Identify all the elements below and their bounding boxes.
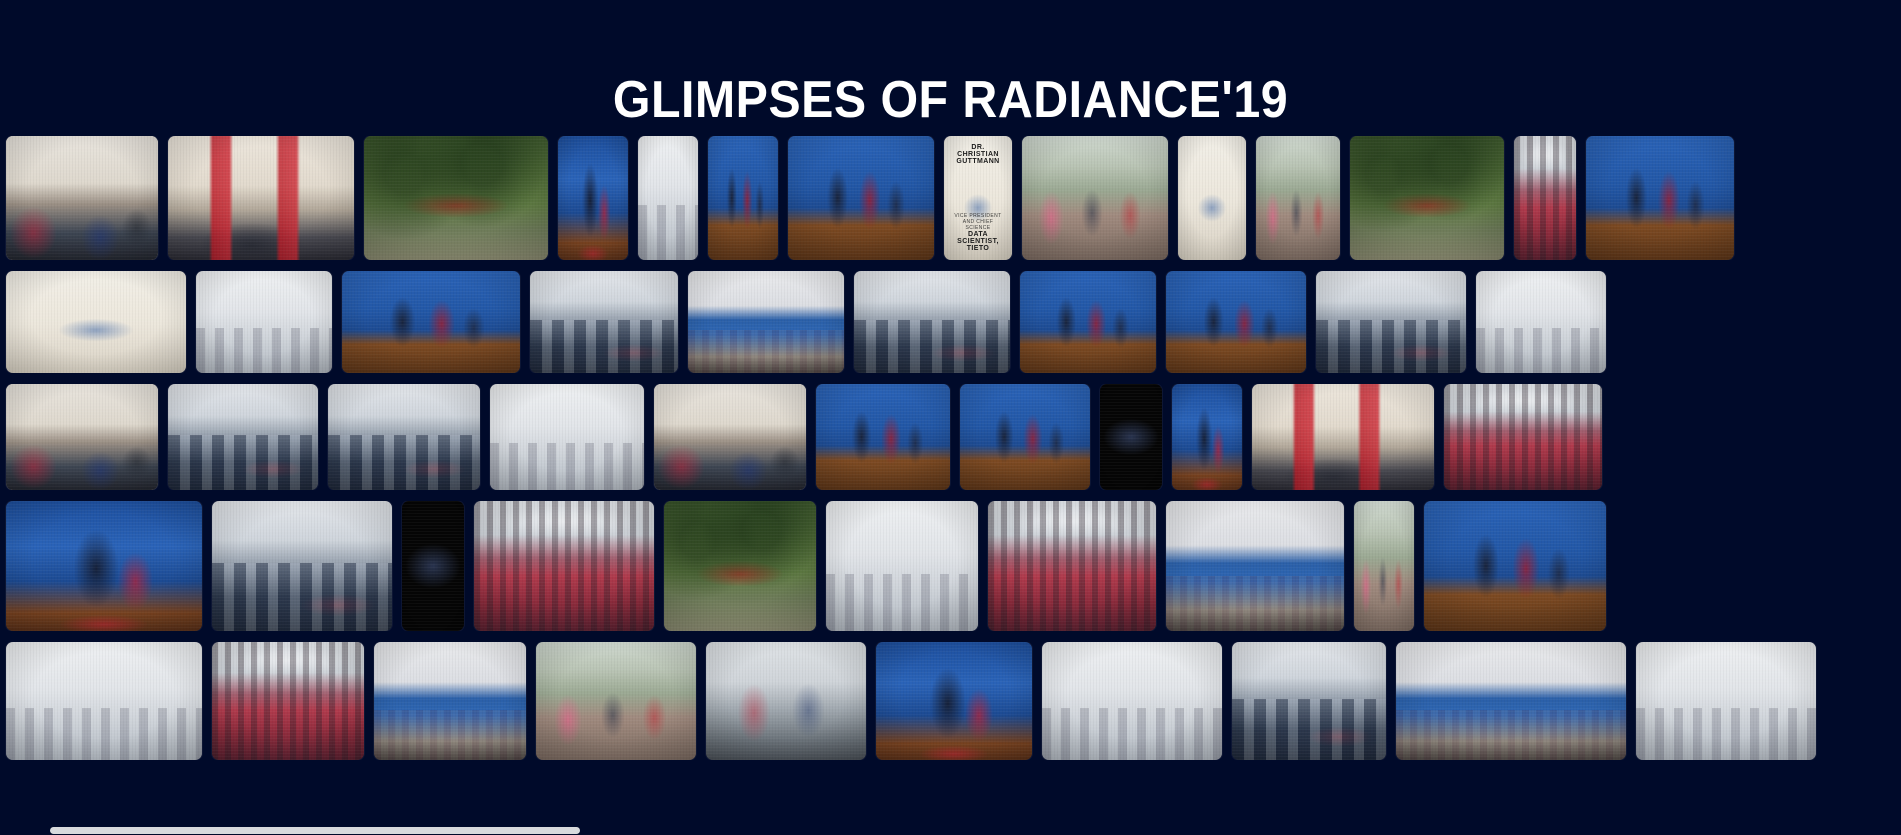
gallery-photo[interactable] [1166,501,1344,631]
gallery-row [0,271,1901,373]
photo-image [558,136,628,260]
gallery-photo[interactable] [1354,501,1414,631]
photo-image [1256,136,1340,260]
photo-image [988,501,1156,631]
photo-image [1232,642,1386,760]
gallery-photo[interactable] [558,136,628,260]
gallery-photo[interactable] [6,136,158,260]
scrollbar-thumb[interactable] [50,827,580,834]
photo-image [1178,136,1246,260]
photo-image [1166,501,1344,631]
photo-image [328,384,480,490]
photo-image [374,642,526,760]
photo-image [402,501,464,631]
photo-image [1444,384,1602,490]
gallery-photo[interactable] [1172,384,1242,490]
gallery-photo[interactable] [1424,501,1606,631]
gallery-photo[interactable] [706,642,866,760]
photo-image [530,271,678,373]
gallery-photo[interactable] [6,642,202,760]
gallery-photo[interactable] [1022,136,1168,260]
gallery-row [0,642,1901,760]
speaker-role-line-2: DATA SCIENTIST, TIETO [950,231,1006,252]
photo-image [1514,136,1576,260]
photo-image [1354,501,1414,631]
gallery-photo[interactable] [1232,642,1386,760]
gallery-photo[interactable] [196,271,332,373]
photo-image [6,271,186,373]
photo-image [474,501,654,631]
gallery-photo[interactable] [530,271,678,373]
photo-image [6,642,202,760]
gallery-photo[interactable] [1444,384,1602,490]
horizontal-scrollbar[interactable] [0,826,1901,835]
photo-image [1316,271,1466,373]
gallery-photo[interactable] [1042,642,1222,760]
gallery-photo[interactable] [1166,271,1306,373]
photo-image [196,271,332,373]
gallery-photo[interactable] [1636,642,1816,760]
gallery-photo[interactable] [1514,136,1576,260]
photo-image [1350,136,1504,260]
gallery-photo[interactable] [536,642,696,760]
gallery-photo[interactable] [490,384,644,490]
photo-gallery: DR. CHRISTIAN GUTTMANNVICE PRESIDENT AND… [0,136,1901,835]
gallery-photo[interactable] [6,384,158,490]
gallery-photo[interactable] [212,642,364,760]
photo-image [854,271,1010,373]
photo-image [1476,271,1606,373]
photo-image [1022,136,1168,260]
gallery-photo[interactable] [168,384,318,490]
gallery-photo[interactable] [854,271,1010,373]
page-root: GLIMPSES OF RADIANCE'19 DR. CHRISTIAN GU… [0,0,1901,835]
gallery-photo[interactable] [402,501,464,631]
photo-image [168,384,318,490]
photo-image [1424,501,1606,631]
photo-image [6,384,158,490]
gallery-row [0,384,1901,490]
photo-image [1586,136,1734,260]
photo-image [960,384,1090,490]
gallery-photo[interactable] [1100,384,1162,490]
gallery-photo[interactable] [6,271,186,373]
photo-image [1042,642,1222,760]
photo-image [638,136,698,260]
gallery-photo[interactable] [6,501,202,631]
photo-image [1172,384,1242,490]
photo-image [490,384,644,490]
gallery-photo[interactable] [342,271,520,373]
speaker-role-line-1: VICE PRESIDENT AND CHIEF SCIENCE [950,213,1006,231]
photo-image [876,642,1032,760]
photo-image [826,501,978,631]
speaker-name: DR. CHRISTIAN GUTTMANN [950,144,1006,165]
photo-image [6,136,158,260]
gallery-photo[interactable] [364,136,548,260]
gallery-photo[interactable] [168,136,354,260]
gallery-photo[interactable] [1256,136,1340,260]
gallery-photo[interactable] [374,642,526,760]
gallery-photo[interactable] [1350,136,1504,260]
photo-image [212,642,364,760]
photo-image [212,501,392,631]
photo-image [1166,271,1306,373]
gallery-photo[interactable] [1252,384,1434,490]
gallery-photo[interactable] [654,384,806,490]
gallery-photo[interactable] [826,501,978,631]
gallery-photo[interactable] [960,384,1090,490]
photo-image [1252,384,1434,490]
gallery-photo[interactable] [1396,642,1626,760]
gallery-photo[interactable] [708,136,778,260]
gallery-photo[interactable]: DR. CHRISTIAN GUTTMANNVICE PRESIDENT AND… [944,136,1012,260]
gallery-photo[interactable] [1316,271,1466,373]
photo-image [706,642,866,760]
gallery-photo[interactable] [876,642,1032,760]
gallery-photo[interactable] [638,136,698,260]
photo-image [364,136,548,260]
photo-image [654,384,806,490]
gallery-photo[interactable] [664,501,816,631]
photo-image [1100,384,1162,490]
gallery-photo[interactable] [988,501,1156,631]
gallery-photo[interactable] [1586,136,1734,260]
photo-image [1636,642,1816,760]
photo-image [168,136,354,260]
photo-image [688,271,844,373]
gallery-row: DR. CHRISTIAN GUTTMANNVICE PRESIDENT AND… [0,136,1901,260]
gallery-photo[interactable] [688,271,844,373]
photo-image [816,384,950,490]
gallery-row [0,501,1901,631]
gallery-photo[interactable] [1178,136,1246,260]
gallery-photo[interactable] [788,136,934,260]
gallery-photo[interactable] [474,501,654,631]
gallery-photo[interactable] [328,384,480,490]
photo-image [1396,642,1626,760]
photo-image [1020,271,1156,373]
photo-image [788,136,934,260]
gallery-photo[interactable] [816,384,950,490]
photo-image [342,271,520,373]
gallery-photo[interactable] [212,501,392,631]
gallery-photo[interactable] [1476,271,1606,373]
photo-image [536,642,696,760]
speaker-card-overlay: DR. CHRISTIAN GUTTMANNVICE PRESIDENT AND… [944,136,1012,260]
photo-image [664,501,816,631]
photo-image [708,136,778,260]
gallery-photo[interactable] [1020,271,1156,373]
photo-image [6,501,202,631]
